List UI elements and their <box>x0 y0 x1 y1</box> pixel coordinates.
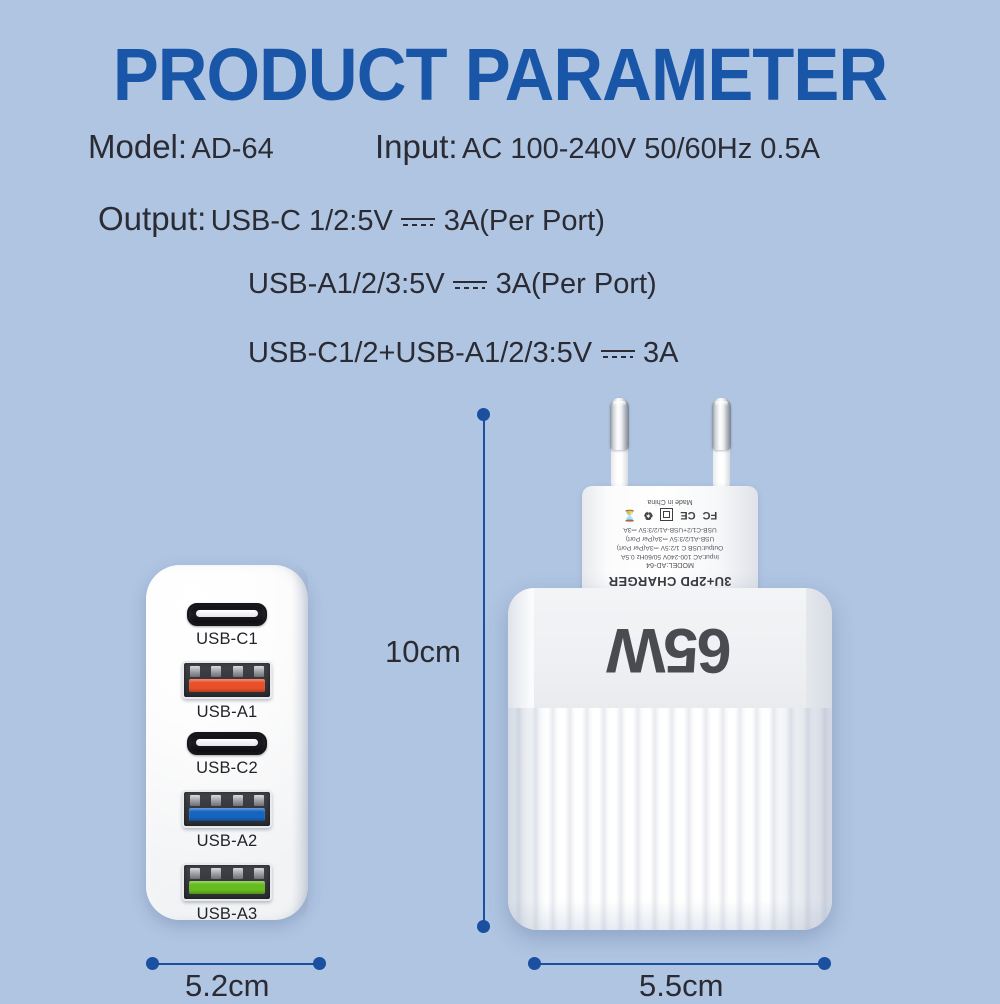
wattage-text: 65W <box>608 614 732 686</box>
usb-c-port-icon <box>187 603 267 626</box>
wattage-area: 65W <box>508 614 832 686</box>
height-dimension-dot-top <box>477 408 490 421</box>
charger-side-view: 3U+2PD CHARGER MODEL:AD-64 Input:AC 100-… <box>500 398 840 930</box>
label-brand: 3U+2PD CHARGER <box>608 574 731 589</box>
page-title: PRODUCT PARAMETER <box>35 32 965 117</box>
weee-hourglass-icon: ⌛ <box>623 509 637 520</box>
port-label: USB-C2 <box>146 759 308 778</box>
fcc-icon: FC <box>703 509 718 520</box>
charger-neck: 3U+2PD CHARGER MODEL:AD-64 Input:AC 100-… <box>582 486 758 596</box>
right-width-dimension-line <box>534 963 824 965</box>
height-dimension-dot-bottom <box>477 920 490 933</box>
spec-output-line-1: Output: USB-C 1/2:5V 3A(Per Port) <box>98 200 605 238</box>
label-input: Input:AC 100-240V 50/60Hz 0.5A <box>621 552 719 561</box>
spec-output-line-2: USB-A1/2/3:5V 3A(Per Port) <box>248 268 657 301</box>
port-row-usb-a2: USB-A2 <box>146 790 308 851</box>
body-edge-shading <box>508 708 832 930</box>
label-model: MODEL:AD-64 <box>646 561 694 570</box>
certification-marks: FC CE ♻ ⌛ <box>623 508 718 521</box>
usb-a-pins <box>190 666 264 677</box>
port-row-usb-a1: USB-A1 <box>146 661 308 722</box>
port-row-usb-c2: USB-C2 <box>146 732 308 778</box>
port-label: USB-A1 <box>146 703 308 722</box>
usb-a-port-icon <box>182 790 272 828</box>
ce-icon: CE <box>680 509 695 520</box>
plug-prong-left <box>610 398 629 490</box>
spec-model: Model: AD-64 <box>88 128 274 166</box>
spec-input-value: AC 100-240V 50/60Hz 0.5A <box>462 133 820 165</box>
left-width-dimension-label: 5.2cm <box>185 968 269 1004</box>
body-bottom-shading <box>508 900 832 930</box>
product-parameter-infographic: PRODUCT PARAMETER Model: AD-64 Input: AC… <box>0 0 1000 1000</box>
plug-prong-right <box>712 398 731 490</box>
usb-a-tongue <box>189 881 265 894</box>
dc-current-icon <box>401 216 435 228</box>
right-width-dimension-label: 5.5cm <box>639 968 723 1004</box>
label-made-in: Made in China <box>647 498 692 505</box>
right-width-dimension-dot-end <box>818 957 831 970</box>
dc-current-icon <box>601 348 635 360</box>
spec-output-line-3: USB-C1/2+USB-A1/2/3:5V 3A <box>248 337 679 370</box>
left-width-dimension-dot-start <box>146 957 159 970</box>
spec-output-1-post: 3A(Per Port) <box>444 205 605 237</box>
usb-a-port-icon <box>182 863 272 901</box>
spec-output-3-post: 3A <box>643 337 678 369</box>
port-row-usb-a3: USB-A3 <box>146 863 308 924</box>
label-output-1: Output:USB C 1/2:5V ⎓3A(Per Port) <box>617 543 723 552</box>
spec-output-2-post: 3A(Per Port) <box>496 268 657 300</box>
port-stack: USB-C1 USB-A1 USB-C2 USB-A2 <box>146 603 308 924</box>
spec-input: Input: AC 100-240V 50/60Hz 0.5A <box>375 128 820 166</box>
usb-a-tongue <box>189 808 265 821</box>
port-row-usb-c1: USB-C1 <box>146 603 308 649</box>
spec-input-label: Input: <box>375 128 458 165</box>
left-width-dimension-dot-end <box>313 957 326 970</box>
dc-current-icon <box>453 279 487 291</box>
recycle-icon: ♻ <box>643 509 653 520</box>
charger-front-view: USB-C1 USB-A1 USB-C2 USB-A2 <box>146 565 308 920</box>
height-dimension-line <box>483 414 485 926</box>
label-output-3: USB-C1/2+USB-A1/2/3:5V ⎓3A <box>623 525 716 534</box>
right-width-dimension-dot-start <box>528 957 541 970</box>
spec-model-value: AD-64 <box>192 133 274 165</box>
port-label: USB-C1 <box>146 630 308 649</box>
left-width-dimension-line <box>152 963 320 965</box>
usb-a-port-icon <box>182 661 272 699</box>
spec-output-2-pre: USB-A1/2/3:5V <box>248 268 445 300</box>
usb-a-tongue <box>189 679 265 692</box>
port-label: USB-A2 <box>146 832 308 851</box>
height-dimension-label: 10cm <box>385 634 461 670</box>
spec-output-label: Output: <box>98 200 206 237</box>
spec-output-3-pre: USB-C1/2+USB-A1/2/3:5V <box>248 337 592 369</box>
product-label: 3U+2PD CHARGER MODEL:AD-64 Input:AC 100-… <box>582 486 758 596</box>
usb-a-pins <box>190 868 264 879</box>
spec-output-1-pre: USB-C 1/2:5V <box>211 205 393 237</box>
usb-a-pins <box>190 795 264 806</box>
usb-c-port-icon <box>187 732 267 755</box>
charger-body: 65W <box>508 588 832 930</box>
label-output-2: USB-A1/2/3:5V ⎓3A(Per Port) <box>626 534 714 543</box>
double-insulation-icon <box>660 508 673 521</box>
port-label: USB-A3 <box>146 905 308 924</box>
spec-model-label: Model: <box>88 128 187 165</box>
